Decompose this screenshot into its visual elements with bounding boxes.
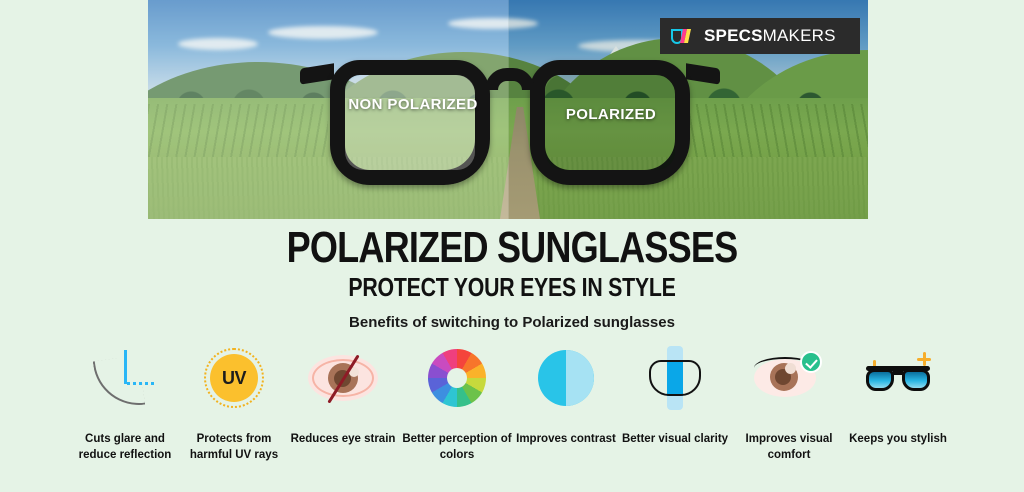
eye-strain-icon (284, 344, 402, 412)
benefit-item-stylish: Keeps you stylish (839, 344, 957, 448)
benefit-label: Improves contrast (507, 432, 625, 448)
page-subtitle: PROTECT YOUR EYES IN STYLE (92, 274, 932, 300)
glare-dotted-ray (127, 382, 155, 385)
benefit-label: Better perception of colors (398, 432, 516, 463)
polarized-label: POLARIZED (536, 106, 686, 123)
contrast-light-half (566, 350, 594, 406)
nose-bridge (485, 68, 535, 90)
benefit-item-clarity: Better visual clarity (616, 344, 734, 448)
page-tagline: Benefits of switching to Polarized sungl… (0, 314, 1024, 331)
benefit-label: Protects from harmful UV rays (175, 432, 293, 463)
sunglasses-lens-right (902, 369, 930, 391)
infographic-page: NON POLARIZED POLARIZED SPECSMAKERS POLA… (0, 0, 1024, 492)
color-wheel-icon (398, 344, 516, 412)
lens-left (330, 60, 490, 185)
lens-outline (649, 360, 701, 396)
benefit-item-eye-strain: Reduces eye strain (284, 344, 402, 448)
logo-text: SPECSMAKERS (704, 26, 836, 46)
logo-text-light: MAKERS (763, 26, 836, 45)
color-wheel-hole (447, 368, 467, 388)
benefit-item-glare: Cuts glare and reduce reflection (66, 344, 184, 463)
sunglasses-sparkle-icon (839, 344, 957, 412)
lens-tint (345, 75, 475, 170)
benefit-label: Reduces eye strain (284, 432, 402, 448)
benefit-label: Cuts glare and reduce reflection (66, 432, 184, 463)
benefit-item-contrast: Improves contrast (507, 344, 625, 448)
benefit-item-comfort: Improves visual comfort (730, 344, 848, 463)
contrast-circle-icon (507, 344, 625, 412)
sunglasses-bridge (893, 371, 903, 375)
non-polarized-label: NON POLARIZED (338, 96, 488, 113)
uv-protection-icon: UV (175, 344, 293, 412)
sunglasses-lens-left (866, 369, 894, 391)
benefit-label: Improves visual comfort (730, 432, 848, 463)
benefit-label: Better visual clarity (616, 432, 734, 448)
eye-check-icon (730, 344, 848, 412)
benefits-row: Cuts glare and reduce reflection UV Prot… (0, 344, 1024, 492)
uv-badge-text: UV (210, 354, 258, 402)
specs-glasses-icon (670, 26, 696, 46)
logo-text-bold: SPECS (704, 26, 763, 45)
hero-banner: NON POLARIZED POLARIZED SPECSMAKERS (148, 0, 868, 219)
benefit-item-uv: UV Protects from harmful UV rays (175, 344, 293, 463)
check-badge-icon (800, 351, 822, 373)
glare-reflection-icon (66, 344, 184, 412)
page-title: POLARIZED SUNGLASSES (92, 226, 932, 270)
lens-clarity-icon (616, 344, 734, 412)
benefit-label: Keeps you stylish (839, 432, 957, 448)
brand-logo[interactable]: SPECSMAKERS (660, 18, 860, 54)
benefit-item-colors: Better perception of colors (398, 344, 516, 463)
glare-vertical-ray (124, 350, 127, 384)
sunglasses-overlay: NON POLARIZED POLARIZED (330, 60, 690, 185)
